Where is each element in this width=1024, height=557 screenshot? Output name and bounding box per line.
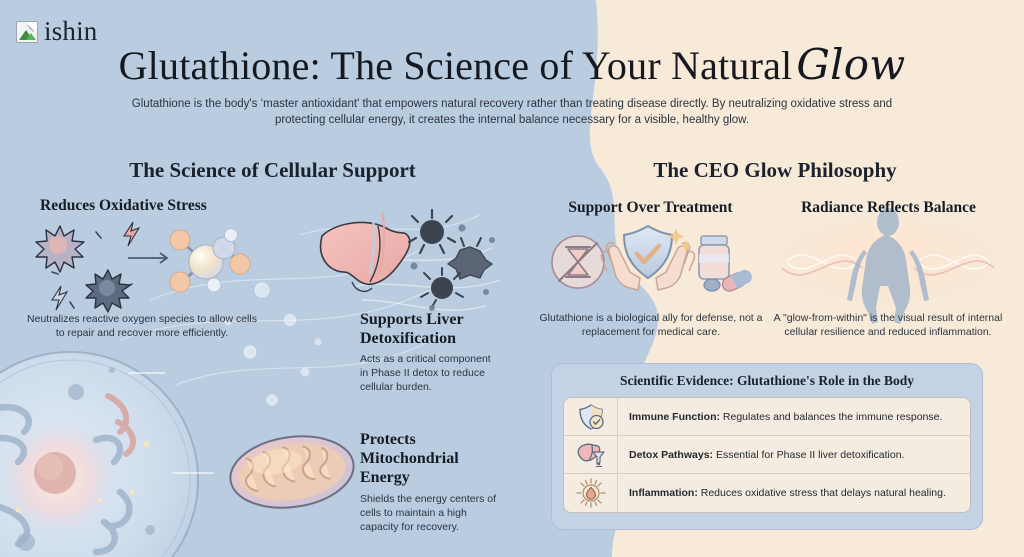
evidence-row-label: Inflammation: — [629, 487, 698, 499]
block-body-mitochondria: Shields the energy centers of cells to m… — [360, 492, 500, 534]
evidence-row-desc: Regulates and balances the immune respon… — [720, 411, 942, 423]
evidence-row-text: Detox Pathways: Essential for Phase II l… — [618, 449, 904, 461]
page-title-main: Glutathione: The Science of Your Natural — [119, 43, 793, 88]
block-heading-oxidative-stress: Reduces Oxidative Stress — [40, 197, 207, 215]
block-heading-mitochondria: Protects Mitochondrial Energy — [360, 430, 500, 487]
block-heading-liver: Supports Liver Detoxification — [360, 310, 510, 348]
evidence-card-title: Scientific Evidence: Glutathione's Role … — [563, 373, 971, 389]
evidence-row-text: Inflammation: Reduces oxidative stress t… — [618, 487, 946, 499]
brand-name: ishin — [44, 16, 98, 47]
flame-rays-icon — [564, 474, 618, 512]
evidence-row-label: Immune Function: — [629, 411, 720, 423]
evidence-row-label: Detox Pathways: — [629, 449, 713, 461]
column-body-support: Glutathione is a biological ally for def… — [535, 311, 767, 339]
left-section-heading: The Science of Cellular Support — [35, 158, 510, 183]
no-hourglass-icon — [552, 236, 604, 288]
shield-check-icon — [564, 398, 618, 436]
column-body-radiance: A "glow-from-within" is the visual resul… — [772, 311, 1004, 339]
column-heading-support: Support Over Treatment — [548, 199, 753, 217]
column-heading-radiance: Radiance Reflects Balance — [776, 199, 1001, 217]
page-title-accent: Glow — [792, 40, 905, 89]
evidence-row-inflammation[interactable]: Inflammation: Reduces oxidative stress t… — [564, 474, 970, 512]
evidence-row-detox-pathways[interactable]: Detox Pathways: Essential for Phase II l… — [564, 436, 970, 474]
infographic-poster: ishin Glutathione: The Science of Your N… — [0, 0, 1024, 557]
evidence-row-desc: Reduces oxidative stress that delays nat… — [698, 487, 946, 499]
right-section-heading: The CEO Glow Philosophy — [545, 158, 1005, 183]
evidence-row-immune-function[interactable]: Immune Function: Regulates and balances … — [564, 398, 970, 436]
brand-logo[interactable]: ishin — [16, 16, 98, 47]
evidence-table: Immune Function: Regulates and balances … — [563, 397, 971, 513]
scientific-evidence-card: Scientific Evidence: Glutathione's Role … — [551, 363, 983, 530]
evidence-row-desc: Essential for Phase II liver detoxificat… — [713, 449, 904, 461]
block-body-liver: Acts as a critical component in Phase II… — [360, 352, 500, 394]
block-body-oxidative-stress: Neutralizes reactive oxygen species to a… — [22, 312, 262, 340]
evidence-row-text: Immune Function: Regulates and balances … — [618, 411, 942, 423]
liver-funnel-icon — [564, 436, 618, 474]
page-subtitle: Glutathione is the body's ‘master antiox… — [117, 96, 907, 128]
broken-image-icon — [16, 21, 38, 43]
page-title: Glutathione: The Science of Your Natural… — [0, 40, 1024, 89]
